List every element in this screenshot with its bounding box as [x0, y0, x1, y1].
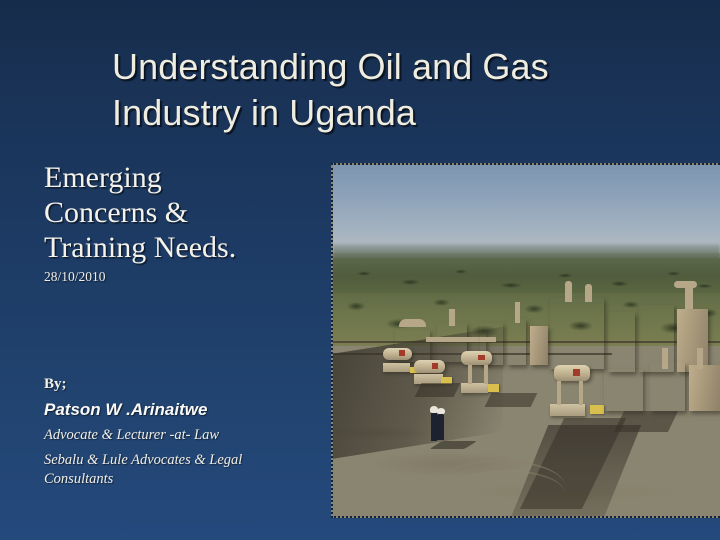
equipment-support-leg-2: [484, 365, 488, 384]
equipment-support-leg-1: [468, 365, 472, 384]
equipment-red-label-3: [478, 355, 485, 361]
presentation-slide: Understanding Oil and Gas Industry in Ug…: [0, 0, 720, 540]
worker-1-body: [431, 412, 438, 440]
equipment-unit-mid-2: [507, 319, 526, 365]
equipment-unit-right-5: [604, 369, 643, 411]
presentation-date: 28/10/2010: [44, 268, 316, 286]
equipment-unit-right-6: [650, 362, 685, 411]
oil-field-photo: [331, 163, 720, 518]
equipment-separator-3: [461, 351, 492, 365]
equipment-pipe-riser-1: [449, 309, 455, 327]
equipment-unit-mid-3: [530, 326, 547, 365]
equipment-red-label-1: [399, 350, 405, 356]
subtitle-line-1: Emerging: [44, 160, 316, 195]
byline-by-label: By;: [44, 374, 316, 394]
equipment-pipe-riser-2: [515, 302, 520, 323]
photo-sky: [333, 165, 720, 253]
page-title: Understanding Oil and Gas Industry in Ug…: [112, 44, 672, 136]
equipment-shadow-2: [484, 393, 537, 407]
presenter-firm-line-2: Consultants: [44, 470, 316, 489]
equipment-yellow-box-3: [488, 384, 500, 392]
presenter-role: Advocate & Lecturer -at- Law: [44, 426, 316, 445]
byline-block: By; Patson W .Arinaitwe Advocate & Lectu…: [44, 374, 316, 489]
equipment-red-label-4: [573, 369, 580, 375]
worker-2-body: [437, 414, 444, 441]
equipment-red-label-2: [432, 363, 438, 369]
equipment-unit-right-7: [689, 365, 720, 411]
equipment-support-leg-4: [579, 381, 583, 406]
equipment-pipe-arch-1: [399, 319, 426, 327]
equipment-vertical-pipe-2: [697, 348, 703, 369]
presenter-name: Patson W .Arinaitwe: [44, 397, 316, 422]
equipment-tank-right-1: [550, 298, 604, 368]
equipment-vertical-pipe-1: [662, 348, 668, 369]
subtitle-line-3: Training Needs.: [44, 230, 316, 265]
equipment-separator-2: [414, 360, 445, 373]
equipment-unit-right-2: [608, 312, 635, 372]
subtitle-block: Emerging Concerns & Training Needs. 28/1…: [44, 160, 316, 286]
equipment-support-leg-3: [557, 381, 561, 406]
equipment-elbow-1: [674, 281, 697, 288]
photo-content: [333, 165, 720, 516]
equipment-skid-base-4: [550, 404, 585, 417]
worker-2-hardhat: [437, 408, 445, 414]
equipment-stack-1: [565, 281, 572, 302]
subtitle-line-2: Concerns &: [44, 195, 316, 230]
title-line-1: Understanding Oil and Gas: [112, 44, 672, 90]
equipment-skid-base-1: [383, 363, 410, 372]
equipment-shadow-1: [415, 383, 461, 397]
title-line-2: Industry in Uganda: [112, 90, 672, 136]
equipment-stack-2: [585, 284, 592, 302]
presenter-firm-line-1: Sebalu & Lule Advocates & Legal: [44, 451, 316, 470]
photo-far-vegetation: [333, 258, 720, 297]
equipment-yellow-box-4: [590, 405, 603, 413]
